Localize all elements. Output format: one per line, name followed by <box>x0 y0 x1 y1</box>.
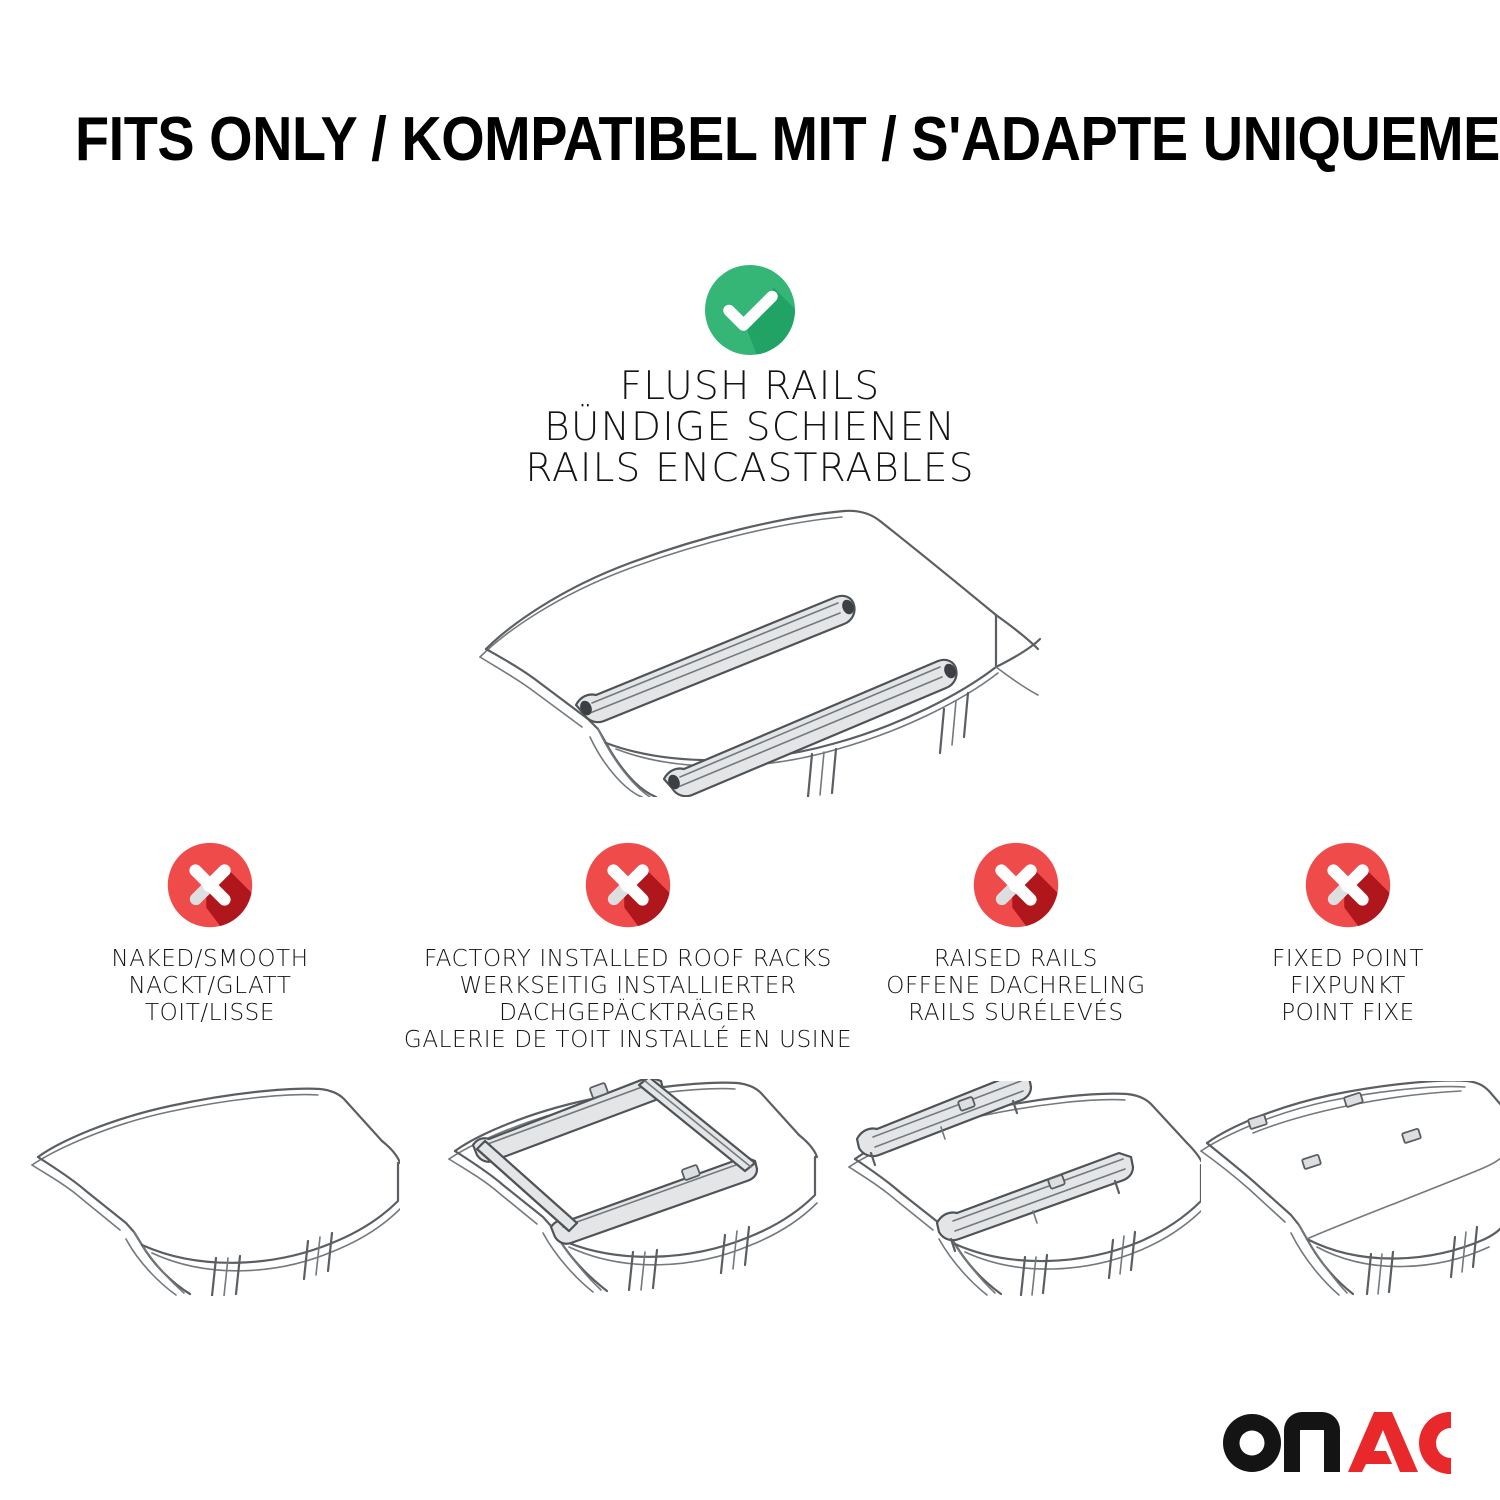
incompatible-illustration-wrap-4 <box>1193 1081 1500 1301</box>
compatible-label: FLUSH RAILS BÜNDIGE SCHIENEN RAILS ENCAS… <box>0 366 1500 489</box>
compatible-label-line-3: RAILS ENCASTRABLES <box>0 448 1500 489</box>
incompatible-label-1-line-1: NAKED/SMOOTH <box>111 946 308 973</box>
cross-circle-icon <box>583 840 673 930</box>
incompatible-icon-wrap-1 <box>165 840 255 940</box>
incompatible-label-2: FACTORY INSTALLED ROOF RACKS WERKSEITIG … <box>404 946 852 1054</box>
omac-logo <box>1222 1412 1452 1479</box>
car-roof-raised-rails-illustration <box>831 1081 1201 1296</box>
incompatible-card-factory-racks: FACTORY INSTALLED ROOF RACKS WERKSEITIG … <box>420 840 836 1299</box>
car-roof-factory-racks-illustration <box>433 1079 823 1294</box>
check-circle-icon <box>702 262 798 358</box>
compatible-illustration-wrap <box>0 497 1500 802</box>
car-roof-fixed-point-illustration <box>1193 1081 1500 1296</box>
incompatible-label-2-line-1: FACTORY INSTALLED ROOF RACKS <box>404 946 852 973</box>
incompatible-label-4-line-1: FIXED POINT <box>1272 946 1424 973</box>
compatible-label-line-2: BÜNDIGE SCHIENEN <box>0 407 1500 448</box>
cross-circle-icon <box>165 840 255 930</box>
omac-logo-mark <box>1222 1412 1452 1474</box>
compatible-section: FLUSH RAILS BÜNDIGE SCHIENEN RAILS ENCAS… <box>0 262 1500 802</box>
incompatible-label-3-line-2: OFFENE DACHRELING <box>886 973 1145 1000</box>
incompatible-label-2-line-3: DACHGEPÄCKTRÄGER <box>404 1000 852 1027</box>
incompatible-label-3-line-1: RAISED RAILS <box>886 946 1145 973</box>
incompatible-label-1-line-2: NACKT/GLATT <box>111 973 308 1000</box>
incompatible-label-1: NAKED/SMOOTH NACKT/GLATT TOIT/LISSE <box>111 946 308 1027</box>
incompatible-label-1-line-3: TOIT/LISSE <box>111 1000 308 1027</box>
incompatible-label-4-line-2: FIXPUNKT <box>1272 973 1424 1000</box>
incompatible-section: NAKED/SMOOTH NACKT/GLATT TOIT/LISSE <box>0 840 1500 1301</box>
incompatible-label-3: RAISED RAILS OFFENE DACHRELING RAILS SUR… <box>886 946 1145 1027</box>
page-title: FITS ONLY / KOMPATIBEL MIT / S'ADAPTE UN… <box>75 104 1425 175</box>
car-roof-flush-rails-illustration <box>440 497 1060 797</box>
fitment-infographic: FITS ONLY / KOMPATIBEL MIT / S'ADAPTE UN… <box>0 0 1500 1500</box>
cross-circle-icon <box>1303 840 1393 930</box>
incompatible-icon-wrap-4 <box>1303 840 1393 940</box>
incompatible-label-3-line-3: RAILS SURÉLEVÉS <box>886 1000 1145 1027</box>
incompatible-illustration-wrap-2 <box>433 1079 823 1299</box>
cross-circle-icon <box>971 840 1061 930</box>
incompatible-label-4-line-3: POINT FIXE <box>1272 1000 1424 1027</box>
incompatible-icon-wrap-2 <box>583 840 673 940</box>
incompatible-label-2-line-4: GALERIE DE TOIT INSTALLÉ EN USINE <box>404 1027 852 1054</box>
incompatible-icon-wrap-3 <box>971 840 1061 940</box>
compatible-icon-wrap <box>0 262 1500 358</box>
incompatible-card-naked: NAKED/SMOOTH NACKT/GLATT TOIT/LISSE <box>0 840 420 1301</box>
incompatible-card-raised-rails: RAISED RAILS OFFENE DACHRELING RAILS SUR… <box>836 840 1196 1301</box>
incompatible-illustration-wrap-1 <box>20 1081 400 1301</box>
incompatible-card-fixed-point: FIXED POINT FIXPUNKT POINT FIXE <box>1196 840 1500 1301</box>
car-roof-naked-illustration <box>20 1081 400 1296</box>
incompatible-label-2-line-2: WERKSEITIG INSTALLIERTER <box>404 973 852 1000</box>
incompatible-label-4: FIXED POINT FIXPUNKT POINT FIXE <box>1272 946 1424 1027</box>
incompatible-illustration-wrap-3 <box>831 1081 1201 1301</box>
compatible-label-line-1: FLUSH RAILS <box>0 366 1500 407</box>
